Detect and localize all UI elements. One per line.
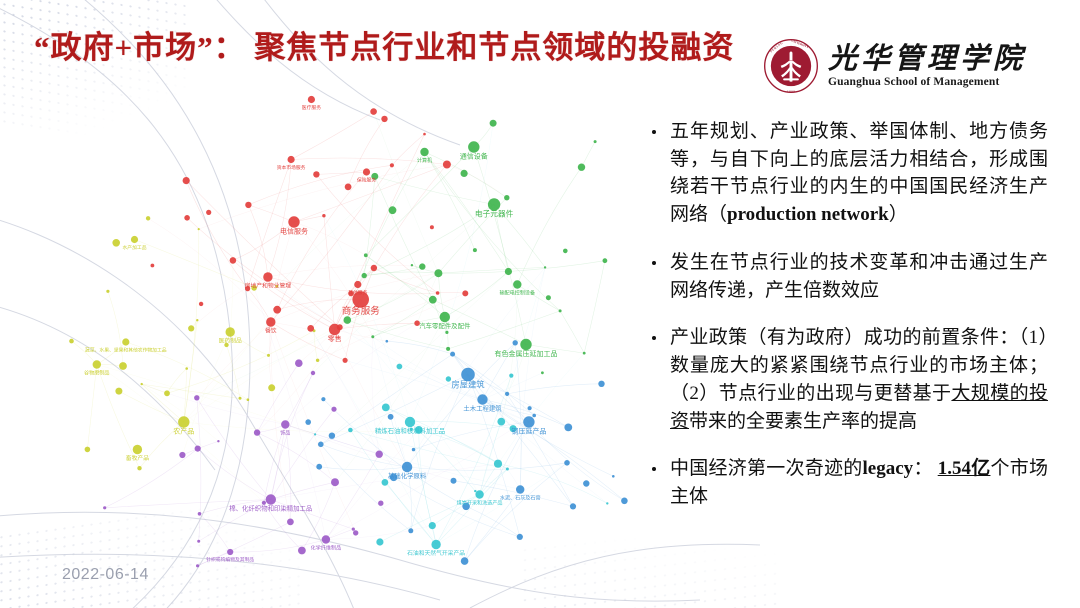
network-node	[188, 325, 194, 331]
network-node	[504, 195, 509, 200]
network-node	[370, 108, 377, 115]
network-node	[621, 498, 628, 505]
network-node	[305, 419, 311, 425]
network-node	[288, 156, 295, 163]
network-node	[462, 290, 468, 296]
network-node	[408, 528, 413, 533]
network-node-label: 基础化学原料	[388, 471, 427, 480]
network-node-label: 电子元器件	[475, 209, 514, 219]
network-node-label: 其他服务	[348, 289, 367, 296]
network-node	[516, 485, 524, 493]
bullet-text: 带来的全要素生产率的提高	[689, 411, 917, 432]
network-node	[281, 420, 289, 428]
network-node	[446, 347, 450, 351]
network-node	[197, 540, 200, 543]
network-node-label: 医药制品	[219, 337, 242, 345]
logo-chinese-name: 光华管理学院	[828, 44, 1026, 74]
network-node	[230, 257, 237, 264]
network-node	[544, 266, 546, 268]
network-node	[316, 359, 319, 362]
network-node	[311, 371, 315, 375]
network-node	[254, 429, 260, 435]
network-graph-svg: 商务服务零售餐饮医疗服务电信服务房地产和物业管理其他服务资本市场服务保险服务电子…	[62, 72, 642, 572]
network-node	[322, 535, 330, 543]
network-node	[146, 216, 150, 220]
network-node-label: 有色金属压延加工品	[495, 349, 558, 358]
network-node	[520, 339, 531, 350]
network-node	[412, 448, 415, 451]
network-node	[307, 325, 314, 332]
network-node-label: 零售	[328, 334, 342, 343]
svg-text:1 8 9 8: 1 8 9 8	[787, 90, 795, 93]
network-node	[348, 428, 353, 433]
network-edges	[72, 112, 625, 566]
network-node-label: 计算机	[417, 157, 432, 164]
network-node	[329, 433, 335, 439]
network-node	[245, 202, 251, 208]
network-node	[354, 281, 361, 288]
network-node	[450, 352, 455, 357]
network-node	[532, 414, 536, 418]
network-node	[563, 249, 568, 254]
network-node	[69, 339, 74, 344]
emphasis-key-figure: 1.54亿	[938, 458, 991, 479]
network-node	[115, 388, 122, 395]
network-node	[431, 540, 440, 549]
network-node	[546, 295, 551, 300]
network-node-label: 农产品	[173, 427, 194, 436]
network-node	[583, 352, 586, 355]
bullet-2: 发生在节点行业的技术变革和冲击通过生产网络传递，产生倍数效应	[648, 249, 1048, 304]
network-node	[106, 290, 109, 293]
network-node	[103, 506, 106, 509]
network-node	[308, 96, 315, 103]
network-node	[494, 460, 502, 468]
network-node	[468, 141, 479, 152]
network-node	[523, 416, 534, 427]
network-node	[443, 161, 451, 169]
network-node	[388, 414, 394, 420]
bullet-text: 发生在节点行业的技术变革和冲击通过生产网络传递，产生倍数效应	[670, 252, 1048, 301]
network-node	[363, 168, 370, 175]
network-node-label: 棉、化纤织物和印染精加工品	[229, 504, 312, 513]
network-node	[263, 272, 272, 281]
bullet-list: 五年规划、产业政策、举国体制、地方债务等，与自下向上的底层活力相结合，形成围绕若…	[648, 118, 1048, 531]
network-node	[513, 280, 521, 288]
network-node	[371, 335, 374, 338]
network-node-label: 针织或钩编物及其制品	[206, 556, 254, 563]
network-node	[420, 148, 428, 156]
network-node	[268, 384, 275, 391]
network-node	[505, 268, 512, 275]
network-node-label: 房地产和物业管理	[245, 282, 292, 290]
network-node	[402, 462, 412, 472]
network-node	[196, 564, 199, 567]
network-node	[179, 452, 185, 458]
network-node	[583, 480, 589, 486]
network-node	[461, 170, 468, 177]
bullet-4: 中国经济第一次奇迹的legacy： 1.54亿个市场主体	[648, 455, 1048, 510]
network-node-label: 电信服务	[280, 227, 308, 236]
network-node-label: 房屋建筑	[451, 379, 485, 389]
network-node	[603, 258, 608, 263]
network-node	[371, 265, 377, 271]
network-node	[141, 383, 143, 385]
network-node	[178, 416, 189, 427]
network-node	[194, 395, 199, 400]
network-node	[564, 424, 572, 432]
network-node-label: 土木工程建筑	[463, 404, 502, 413]
peking-university-seal-icon: P E K I N G UNIVERSITY 1 8 9 8	[763, 38, 819, 94]
network-node	[183, 177, 190, 184]
network-node	[364, 253, 368, 257]
network-node	[436, 291, 440, 295]
network-node	[505, 392, 509, 396]
network-node	[594, 140, 597, 143]
network-node	[137, 466, 141, 470]
network-node	[513, 340, 518, 345]
network-node	[133, 445, 142, 454]
network-node	[606, 502, 608, 504]
network-node	[273, 306, 281, 314]
network-node-label: 精炼石油和核燃料加工品	[375, 426, 445, 435]
bullet-1: 五年规划、产业政策、举国体制、地方债务等，与自下向上的底层活力相结合，形成围绕若…	[648, 118, 1048, 229]
network-node	[445, 331, 448, 334]
bullet-text: 中国经济第一次奇迹的	[670, 458, 863, 479]
network-node	[196, 319, 198, 321]
network-node	[122, 338, 129, 345]
network-node-label: 医疗服务	[302, 104, 321, 111]
logo-english-name: Guanghua School of Management	[828, 76, 999, 88]
emphasis-bold: legacy	[863, 458, 914, 479]
network-labels: 商务服务零售餐饮医疗服务电信服务房地产和物业管理其他服务资本市场服务保险服务电子…	[84, 104, 557, 563]
network-node	[247, 398, 250, 401]
network-node	[266, 317, 275, 326]
network-node	[423, 133, 426, 136]
network-node-label: 水产加工品	[123, 244, 147, 251]
network-node-label: 化学纤维制品	[311, 545, 342, 552]
network-node	[382, 404, 390, 412]
network-node	[405, 417, 415, 427]
network-node	[131, 236, 138, 243]
network-node	[474, 490, 476, 492]
network-node-label: 蔬菜、水果、坚果和其他农作物加工品	[85, 347, 167, 354]
network-node	[397, 364, 403, 370]
network-node	[329, 324, 340, 335]
network-node	[318, 442, 324, 448]
network-node	[198, 512, 202, 516]
network-node	[344, 316, 352, 324]
network-node	[239, 397, 242, 400]
network-node-label: 餐饮	[265, 327, 277, 335]
network-node-label: 石油和天然气开采产品	[407, 549, 465, 557]
bullet-text: ）	[889, 204, 908, 225]
network-node	[198, 228, 200, 230]
network-node-label: 通信设备	[460, 152, 488, 161]
network-node	[440, 312, 450, 322]
network-node	[287, 519, 294, 526]
network-node	[490, 120, 497, 127]
network-node	[419, 263, 425, 269]
network-node	[564, 460, 570, 466]
network-node	[473, 248, 477, 252]
network-node	[612, 475, 615, 478]
production-network-graph: 商务服务零售餐饮医疗服务电信服务房地产和物业管理其他服务资本市场服务保险服务电子…	[62, 72, 642, 572]
network-node	[313, 171, 319, 177]
network-node-label: 煤炭开采和洗选产品	[457, 500, 503, 507]
network-node	[262, 501, 266, 505]
network-node	[266, 494, 276, 504]
network-node	[151, 264, 155, 268]
bullet-text: ：	[913, 458, 938, 479]
network-node-label: 保险服务	[357, 177, 376, 184]
network-node	[475, 490, 483, 498]
network-node	[112, 239, 120, 247]
network-node-label: 谷物磨制品	[84, 370, 109, 377]
network-nodes	[69, 96, 628, 568]
network-node	[541, 371, 544, 374]
network-node-label: 输配电控制设备	[499, 290, 535, 297]
network-node	[314, 433, 316, 435]
network-node	[206, 210, 211, 215]
network-node	[185, 367, 188, 370]
network-node	[119, 362, 127, 370]
slide-date: 2022-06-14	[62, 566, 149, 584]
network-node-label: 汽车零配件及配件	[419, 321, 471, 330]
network-node	[434, 269, 442, 277]
network-node	[390, 163, 394, 167]
network-node	[570, 503, 576, 509]
network-node	[477, 394, 487, 404]
network-node	[411, 264, 413, 266]
network-node	[451, 478, 457, 484]
network-node	[446, 376, 451, 381]
network-node	[381, 116, 387, 122]
network-node	[389, 206, 397, 214]
network-node	[295, 359, 303, 367]
network-node-label: 畜牧产品	[126, 454, 149, 462]
network-node	[517, 534, 523, 540]
network-node-label: 资本市场服务	[277, 164, 306, 171]
network-node	[298, 547, 306, 555]
bullet-3: 产业政策（有为政府）成功的前置条件：（1）数量庞大的紧紧围绕节点行业的市场主体；…	[648, 324, 1048, 435]
network-node	[331, 478, 339, 486]
network-node	[217, 440, 219, 442]
network-node	[378, 501, 383, 506]
network-node	[164, 390, 170, 396]
network-node	[509, 374, 513, 378]
network-node	[345, 184, 352, 191]
network-node	[528, 406, 532, 410]
network-node	[376, 451, 383, 458]
network-node	[322, 214, 325, 217]
network-node	[362, 273, 367, 278]
network-node	[226, 327, 235, 336]
network-node	[461, 557, 469, 565]
network-node-label: 水泥、石灰及石膏	[500, 495, 541, 502]
network-node	[578, 164, 585, 171]
network-node	[430, 225, 434, 229]
network-node	[199, 302, 203, 306]
network-node	[93, 360, 101, 368]
network-node	[353, 530, 358, 535]
network-node-label: 商务服务	[342, 305, 381, 317]
network-node	[352, 528, 355, 531]
network-node	[429, 522, 436, 529]
network-node-label: 饰品	[280, 430, 290, 437]
slide-root: “政府+市场”： 聚焦节点行业和节点领域的投融资 P E K I N G UNI…	[0, 0, 1080, 608]
network-node	[267, 354, 270, 357]
network-node	[184, 215, 190, 221]
network-node	[386, 340, 389, 343]
network-node	[288, 216, 299, 227]
network-node	[343, 358, 348, 363]
network-node	[316, 464, 322, 470]
network-node	[321, 397, 325, 401]
network-node	[497, 418, 505, 426]
network-node	[195, 446, 201, 452]
emphasis-bold: production network	[727, 204, 889, 225]
network-node-label: 钢压延产品	[511, 427, 546, 436]
network-node	[376, 538, 383, 545]
network-node	[429, 296, 437, 304]
brand-logo: P E K I N G UNIVERSITY 1 8 9 8 光华管理学院 Gu…	[763, 38, 1026, 94]
network-node	[227, 549, 233, 555]
network-node	[331, 407, 336, 412]
network-node	[85, 447, 91, 453]
page-title: “政府+市场”： 聚焦节点行业和节点领域的投融资	[34, 22, 734, 67]
network-node	[598, 381, 604, 387]
network-node	[506, 468, 509, 471]
network-node	[559, 309, 562, 312]
